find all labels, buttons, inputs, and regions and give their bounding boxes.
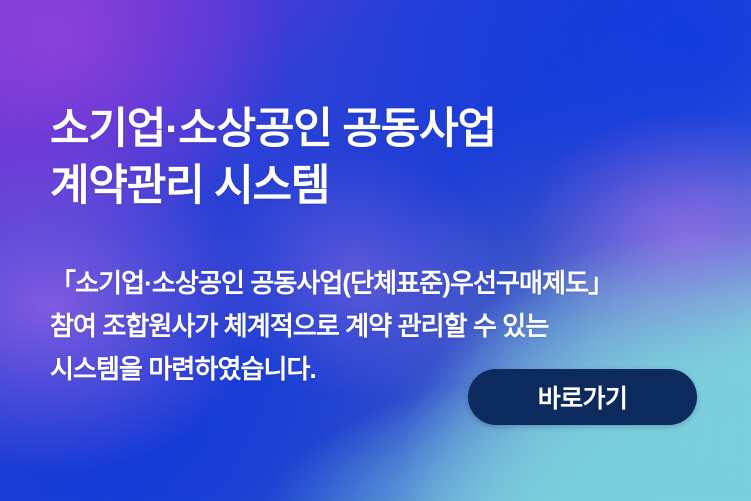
go-to-system-button[interactable]: 바로가기 bbox=[468, 369, 697, 425]
promo-banner: 소기업·소상공인 공동사업 계약관리 시스템 「소기업·소상공인 공동사업(단체… bbox=[0, 0, 751, 501]
banner-headline: 소기업·소상공인 공동사업 계약관리 시스템 bbox=[50, 101, 710, 215]
banner-content: 소기업·소상공인 공동사업 계약관리 시스템 「소기업·소상공인 공동사업(단체… bbox=[0, 0, 751, 501]
